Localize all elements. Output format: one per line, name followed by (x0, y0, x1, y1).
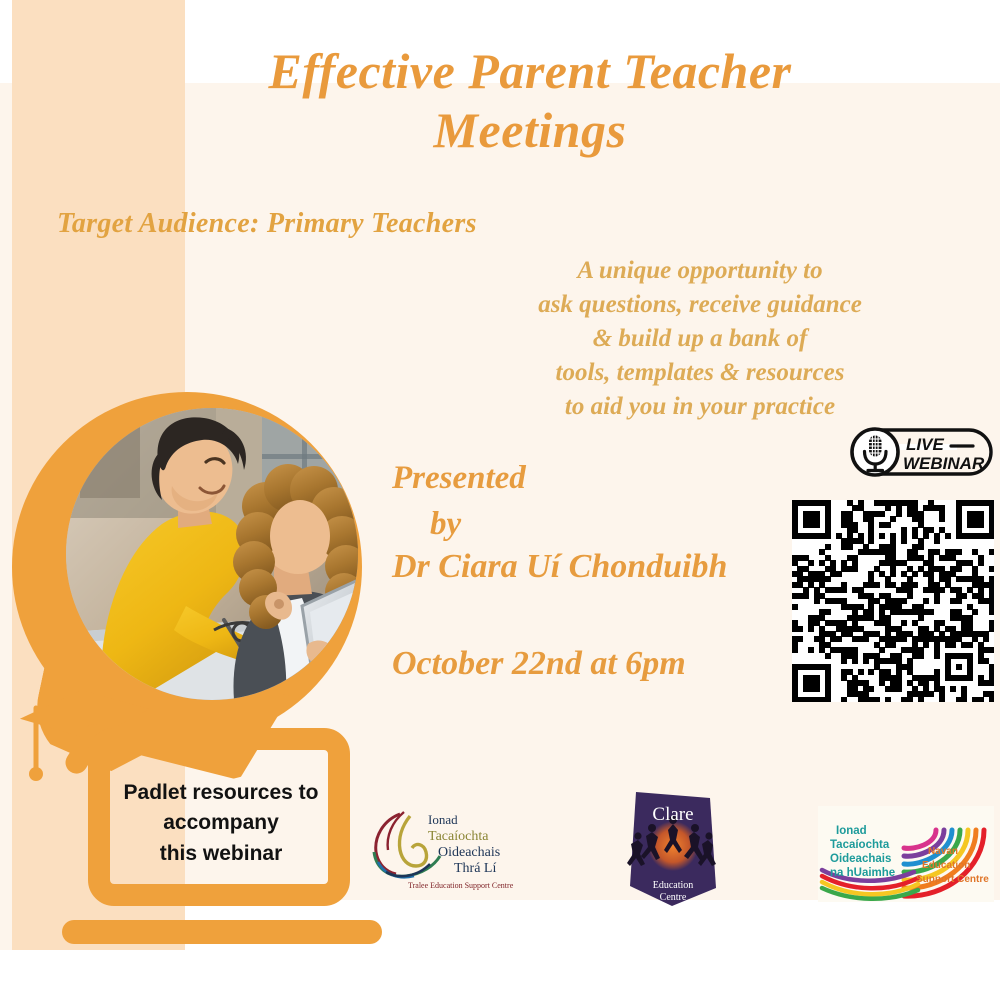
event-datetime: October 22nd at 6pm (392, 645, 686, 683)
blurb-line: ask questions, receive guidance (480, 288, 920, 322)
navan-irish-line-3: Oideachais (830, 853, 891, 865)
navan-irish-line-2: Tacaíochta (830, 839, 890, 851)
padlet-line: this webinar (104, 839, 338, 869)
tralee-subtitle: Tralee Education Support Centre (408, 881, 514, 890)
badge-line-2: WEBINAR (903, 454, 985, 473)
navan-irish-line-4: na hUaimhe (830, 867, 895, 879)
page-title: Effective Parent Teacher Meetings (150, 42, 910, 160)
blurb-text: A unique opportunity to ask questions, r… (480, 254, 920, 424)
poster-canvas: Effective Parent Teacher Meetings Target… (0, 0, 1000, 1000)
navan-english-line-1: Navan (928, 846, 958, 857)
clare-line-2: Education (653, 880, 694, 891)
blurb-line: tools, templates & resources (480, 356, 920, 390)
tralee-line-2: Tacaíochta (428, 829, 489, 844)
blurb-line: A unique opportunity to (480, 254, 920, 288)
tralee-line-1: Ionad (428, 812, 458, 827)
clare-education-centre-logo: Clare Education Centre (622, 788, 724, 910)
clare-line-3: Centre (660, 892, 687, 903)
navan-english-line-3: Support Centre (916, 874, 989, 885)
tralee-line-3: Oideachais (438, 845, 500, 860)
tralee-line-4: Thrá Lí (454, 861, 496, 876)
page-title-line-1: Effective Parent Teacher (150, 42, 910, 101)
blurb-line: to aid you in your practice (480, 390, 920, 424)
target-audience-text: Target Audience: Primary Teachers (57, 208, 477, 240)
presented-label-line-2: by (430, 501, 526, 547)
clare-line-1: Clare (652, 804, 693, 825)
navan-english-line-2: Education (922, 860, 970, 871)
presenter-name: Dr Ciara Uí Chonduibh (392, 548, 727, 586)
blurb-line: & build up a bank of (480, 322, 920, 356)
presented-label-line-1: Presented (392, 460, 526, 496)
badge-line-1: LIVE (906, 435, 944, 454)
laptop-base-graphic (62, 920, 382, 944)
padlet-line: Padlet resources to (104, 778, 338, 808)
status-badge: LIVE WEBINAR (845, 426, 995, 478)
padlet-line: accompany (104, 808, 338, 838)
qr-code-canvas[interactable] (792, 500, 994, 702)
presented-by-label: Presented by (392, 455, 526, 547)
padlet-resources-text: Padlet resources to accompany this webin… (104, 778, 338, 869)
page-title-line-2: Meetings (150, 101, 910, 160)
navan-irish-line-1: Ionad (836, 825, 867, 837)
tralee-education-support-centre-logo: Ionad Tacaíochta Oideachais Thrá Lí Tral… (366, 806, 526, 902)
background-white-footer (0, 950, 1000, 1000)
avatar (66, 408, 358, 700)
navan-education-support-centre-logo: Ionad Tacaíochta Oideachais na hUaimhe N… (818, 806, 994, 902)
qr-code[interactable] (792, 500, 994, 702)
